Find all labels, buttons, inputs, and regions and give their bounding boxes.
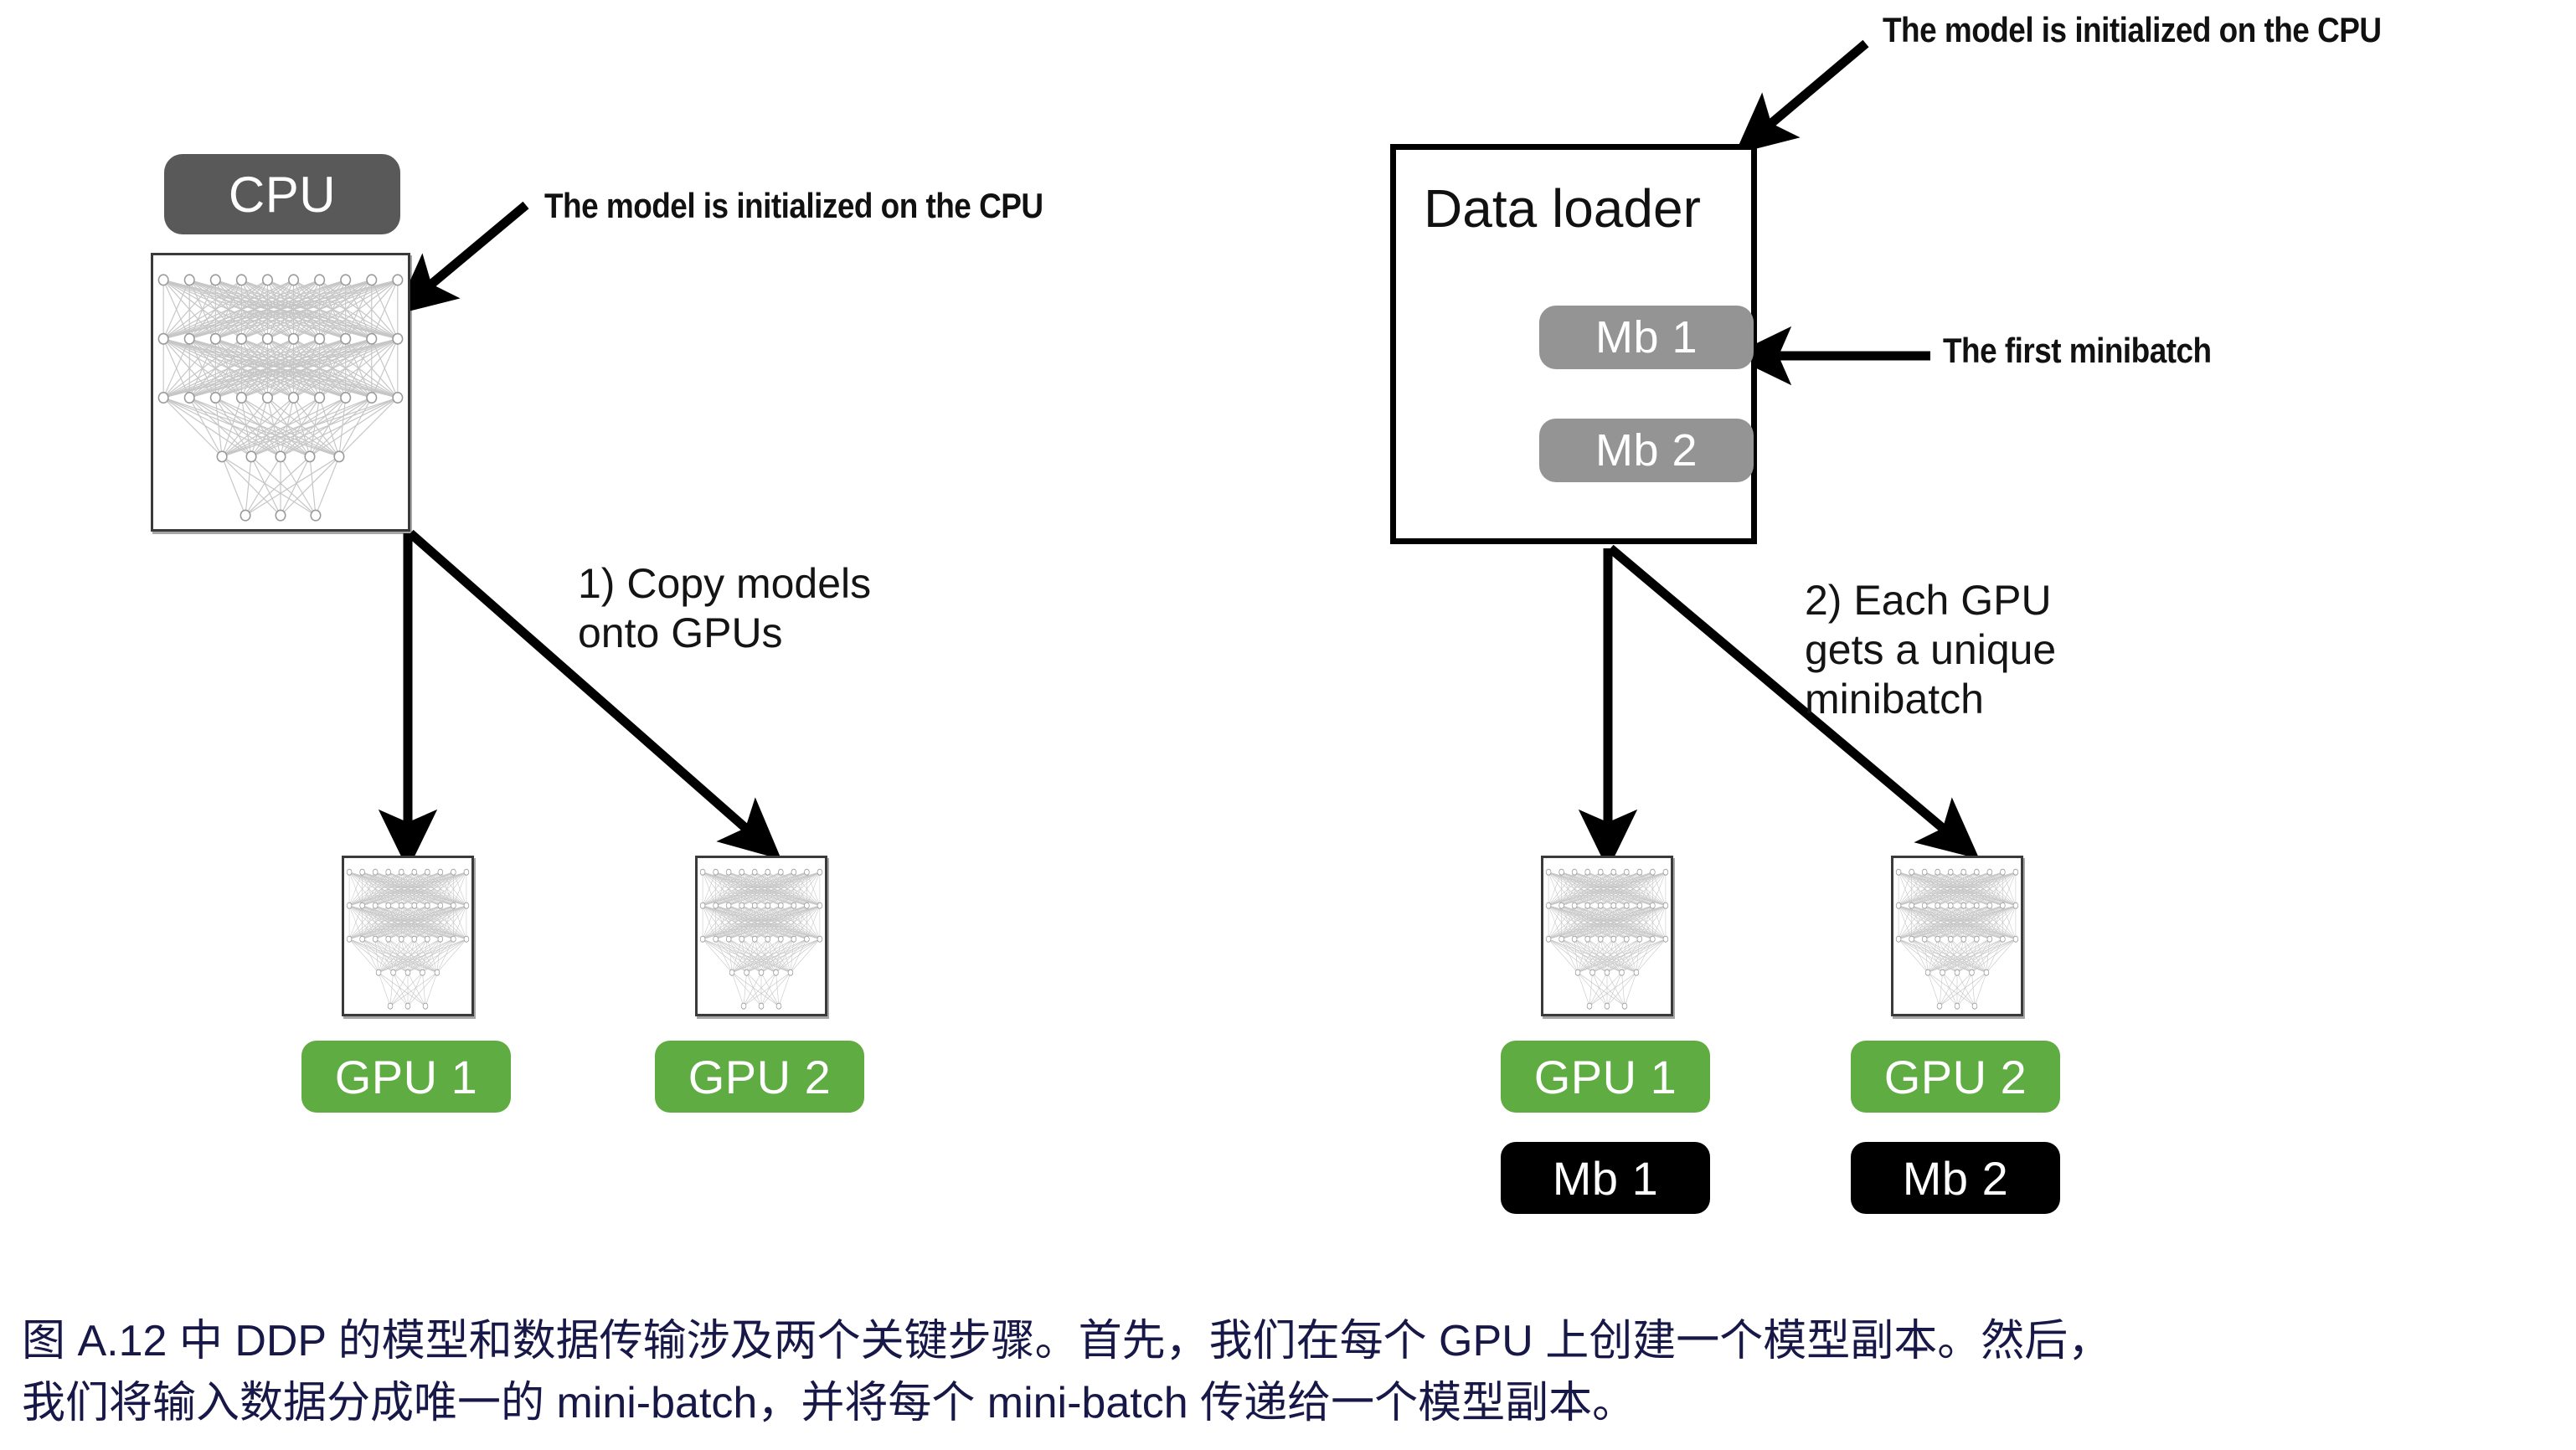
cpu-model-box [151,253,410,532]
neural-network-icon [1543,858,1671,1014]
caption-line-1: 图 A.12 中 DDP 的模型和数据传输涉及两个关键步骤。首先，我们在每个 G… [22,1311,2554,1373]
ddp-figure: CPU The model is initialized on the CPU … [0,0,2576,1306]
gpu-badge-left-1: GPU 1 [301,1041,511,1113]
step-2-label: 2) Each GPUgets a uniqueminibatch [1805,576,2056,724]
figure-caption: 图 A.12 中 DDP 的模型和数据传输涉及两个关键步骤。首先，我们在每个 G… [0,1311,2576,1435]
cpu-badge: CPU [164,154,400,234]
gpu2-model-box-right [1891,856,2023,1016]
neural-network-icon [1893,858,2021,1014]
assigned-minibatch-2: Mb 2 [1851,1142,2060,1214]
gpu-badge-right-1: GPU 1 [1501,1041,1710,1113]
minibatch-label: Mb 1 [1595,311,1698,363]
gpu-label: GPU 2 [1884,1050,2027,1104]
annotation-arrow-left [419,205,526,295]
gpu-badge-left-2: GPU 2 [655,1041,864,1113]
annotation-model-init-right: The model is initialized on the CPU [1883,10,2382,50]
step-2-line1: 2) Each GPU [1805,577,2052,624]
cpu-label: CPU [229,166,336,224]
neural-network-icon [698,858,825,1014]
step-2-line2: gets a unique [1805,626,2056,673]
minibatch-label: Mb 2 [1595,424,1698,476]
gpu2-model-box-left [695,856,827,1016]
step-1-line1: 1) Copy models [578,560,871,607]
step-1-label: 1) Copy modelsonto GPUs [578,559,871,658]
gpu1-model-box-left [342,856,474,1016]
caption-line-2: 我们将输入数据分成唯一的 mini-batch，并将每个 mini-batch … [22,1373,2554,1435]
minibatch-badge-2: Mb 2 [1539,419,1754,482]
minibatch-label: Mb 1 [1553,1151,1659,1206]
gpu-label: GPU 2 [688,1050,832,1104]
annotation-arrow-right [1759,44,1866,134]
gpu-label: GPU 1 [1534,1050,1677,1104]
minibatch-label: Mb 2 [1903,1151,2009,1206]
neural-network-icon [344,858,471,1014]
step-1-line2: onto GPUs [578,609,783,656]
assigned-minibatch-1: Mb 1 [1501,1142,1710,1214]
gpu-label: GPU 1 [335,1050,478,1104]
step-2-line3: minibatch [1805,676,1984,722]
gpu1-model-box-right [1541,856,1673,1016]
neural-network-icon [153,255,408,529]
gpu-badge-right-2: GPU 2 [1851,1041,2060,1113]
data-loader-title: Data loader [1424,177,1701,239]
annotation-first-minibatch: The first minibatch [1943,331,2212,371]
annotation-model-init-left: The model is initialized on the CPU [544,186,1043,226]
minibatch-badge-1: Mb 1 [1539,306,1754,369]
